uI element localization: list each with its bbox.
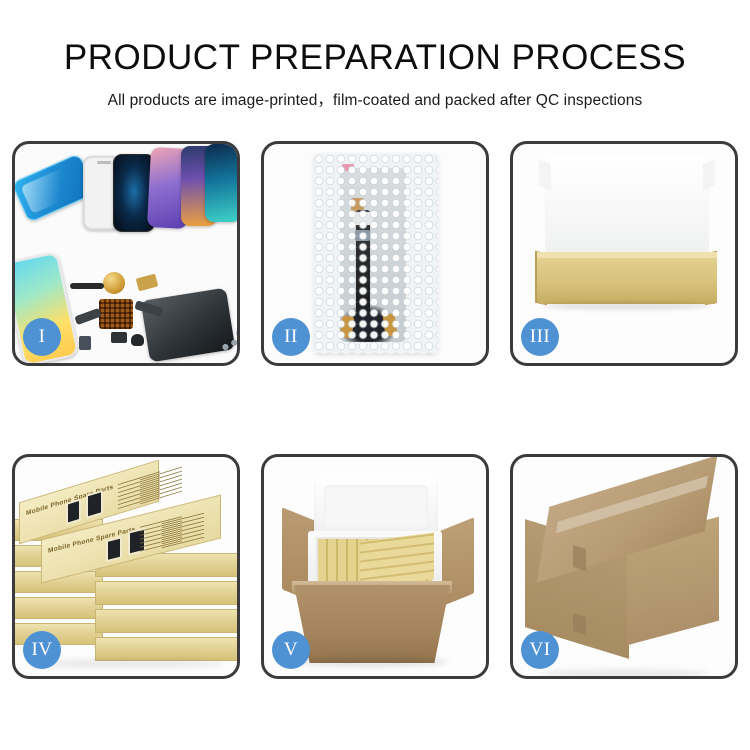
step-badge-1: I xyxy=(23,318,61,356)
step-badge-3: III xyxy=(521,318,559,356)
box-spec-lines xyxy=(140,466,182,505)
process-step-5[interactable]: V xyxy=(261,454,489,679)
stacked-box xyxy=(95,581,237,605)
step-badge-5: V xyxy=(272,631,310,669)
screws-icon xyxy=(221,340,237,354)
gold-component-icon xyxy=(103,272,125,294)
process-step-3[interactable]: III xyxy=(510,141,738,366)
process-step-2[interactable]: II xyxy=(261,141,489,366)
stacked-box xyxy=(95,637,237,661)
box-artwork-phone xyxy=(86,490,103,519)
page-subtitle: All products are image-printed，film-coat… xyxy=(0,75,750,109)
gold-bracket-part xyxy=(136,274,159,292)
header: PRODUCT PREPARATION PROCESS All products… xyxy=(0,0,750,109)
bubble-wrap-bag xyxy=(314,154,438,354)
box-artwork-phone xyxy=(106,536,122,562)
pry-tool-icon xyxy=(235,309,237,337)
process-step-4[interactable]: Mobile Phone Spare Parts Mobile Phone Sp… xyxy=(12,454,240,679)
page-title: PRODUCT PREPARATION PROCESS xyxy=(0,0,750,75)
carton-shadow xyxy=(298,657,448,667)
process-step-grid: I II xyxy=(12,141,738,681)
packed-kraft-boxes-angled xyxy=(360,532,434,587)
process-step-1[interactable]: I xyxy=(12,141,240,366)
sealed-carton xyxy=(521,483,727,649)
step-badge-2: II xyxy=(272,318,310,356)
sim-tray-part xyxy=(79,336,91,350)
kraft-box-front xyxy=(537,252,717,304)
foam-box-lid xyxy=(314,477,438,539)
speaker-part xyxy=(131,334,144,346)
phone-screen-teal xyxy=(205,144,237,222)
page-root: PRODUCT PREPARATION PROCESS All products… xyxy=(0,0,750,750)
bubble-texture xyxy=(314,154,438,354)
small-flex-part-left xyxy=(74,308,102,325)
process-step-6[interactable]: VI xyxy=(510,454,738,679)
camera-module-part xyxy=(111,332,127,343)
box-artwork-phone xyxy=(66,498,81,525)
connector-grid-part xyxy=(99,299,133,329)
box-spec-lines xyxy=(162,512,204,548)
carton-seam-upper xyxy=(573,545,586,571)
box-shadow xyxy=(543,302,711,310)
carton-shadow xyxy=(539,669,709,676)
step-badge-6: VI xyxy=(521,631,559,669)
stacked-box xyxy=(15,597,103,619)
flex-cable-part xyxy=(70,283,104,289)
carton-seam-lower xyxy=(573,613,586,635)
stacked-box xyxy=(95,609,237,633)
step-badge-4: IV xyxy=(23,631,61,669)
carton-body xyxy=(294,585,450,663)
